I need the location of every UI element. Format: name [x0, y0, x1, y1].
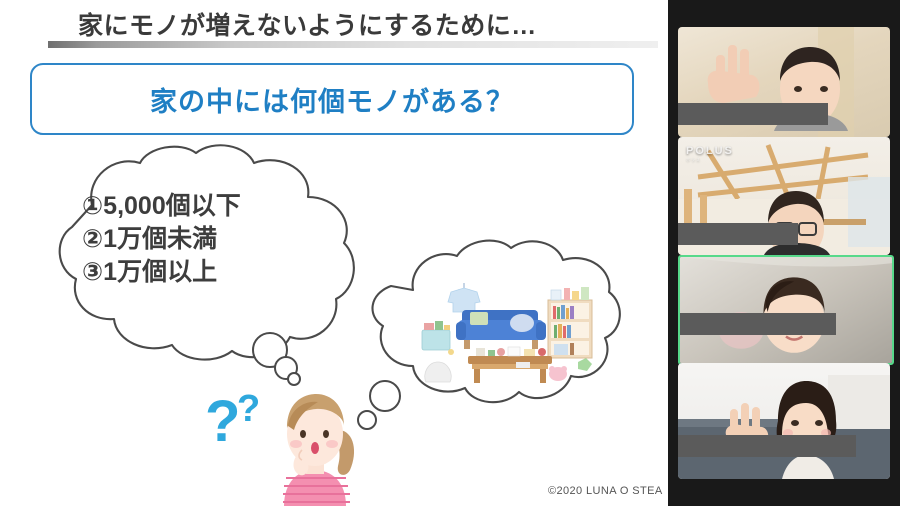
question-box: 家の中には何個モノがある？: [30, 63, 634, 135]
video-tile-participant-3-active[interactable]: [678, 255, 894, 365]
svg-text:?: ?: [205, 389, 240, 454]
question-text: 家の中には何個モノがある？: [150, 80, 514, 119]
copyright-text: ©2020 LUNA O STEA: [548, 485, 663, 497]
plush-toy-icon: [549, 366, 567, 381]
video-tile-participant-1[interactable]: [678, 27, 890, 137]
title-divider: [48, 41, 658, 48]
beanbag-icon: [425, 362, 452, 382]
options-list: ①5,000個以下 ②1万個未満 ③1万個以上: [82, 190, 362, 289]
participant-video-image: [678, 363, 890, 479]
video-tile-participant-4[interactable]: [678, 363, 890, 479]
name-redaction-bar: [680, 313, 836, 335]
slide-area: 家にモノが増えないようにするために… 家の中には何個モノがある？ ①5,000個…: [0, 0, 668, 506]
video-participants-panel: POLUSポラス: [668, 0, 900, 506]
coffee-table-icon: [468, 347, 552, 383]
name-redaction-bar: [678, 223, 798, 245]
svg-text:?: ?: [237, 388, 260, 430]
option-item: ③1万個以上: [82, 256, 362, 289]
polus-watermark: POLUSポラス: [686, 145, 734, 163]
sofa-icon: [456, 310, 546, 349]
video-tile-participant-2[interactable]: POLUSポラス: [678, 137, 890, 255]
page-title: 家にモノが増えないようにするために…: [78, 6, 638, 42]
name-redaction-bar: [678, 435, 856, 457]
presentation-screen: 家にモノが増えないようにするために… 家の中には何個モノがある？ ①5,000個…: [0, 0, 900, 506]
option-item: ①5,000個以下: [82, 190, 362, 223]
hanging-shirt-icon: [448, 283, 480, 312]
option-item: ②1万個未満: [82, 223, 362, 256]
toy-box-icon: [422, 321, 454, 355]
green-toy-icon: [578, 358, 592, 371]
bookshelf-icon: [548, 287, 592, 358]
name-redaction-bar: [678, 103, 828, 125]
room-illustration: [418, 278, 604, 388]
participant-video-image: [680, 257, 892, 361]
thinking-person-illustration: [258, 378, 368, 506]
